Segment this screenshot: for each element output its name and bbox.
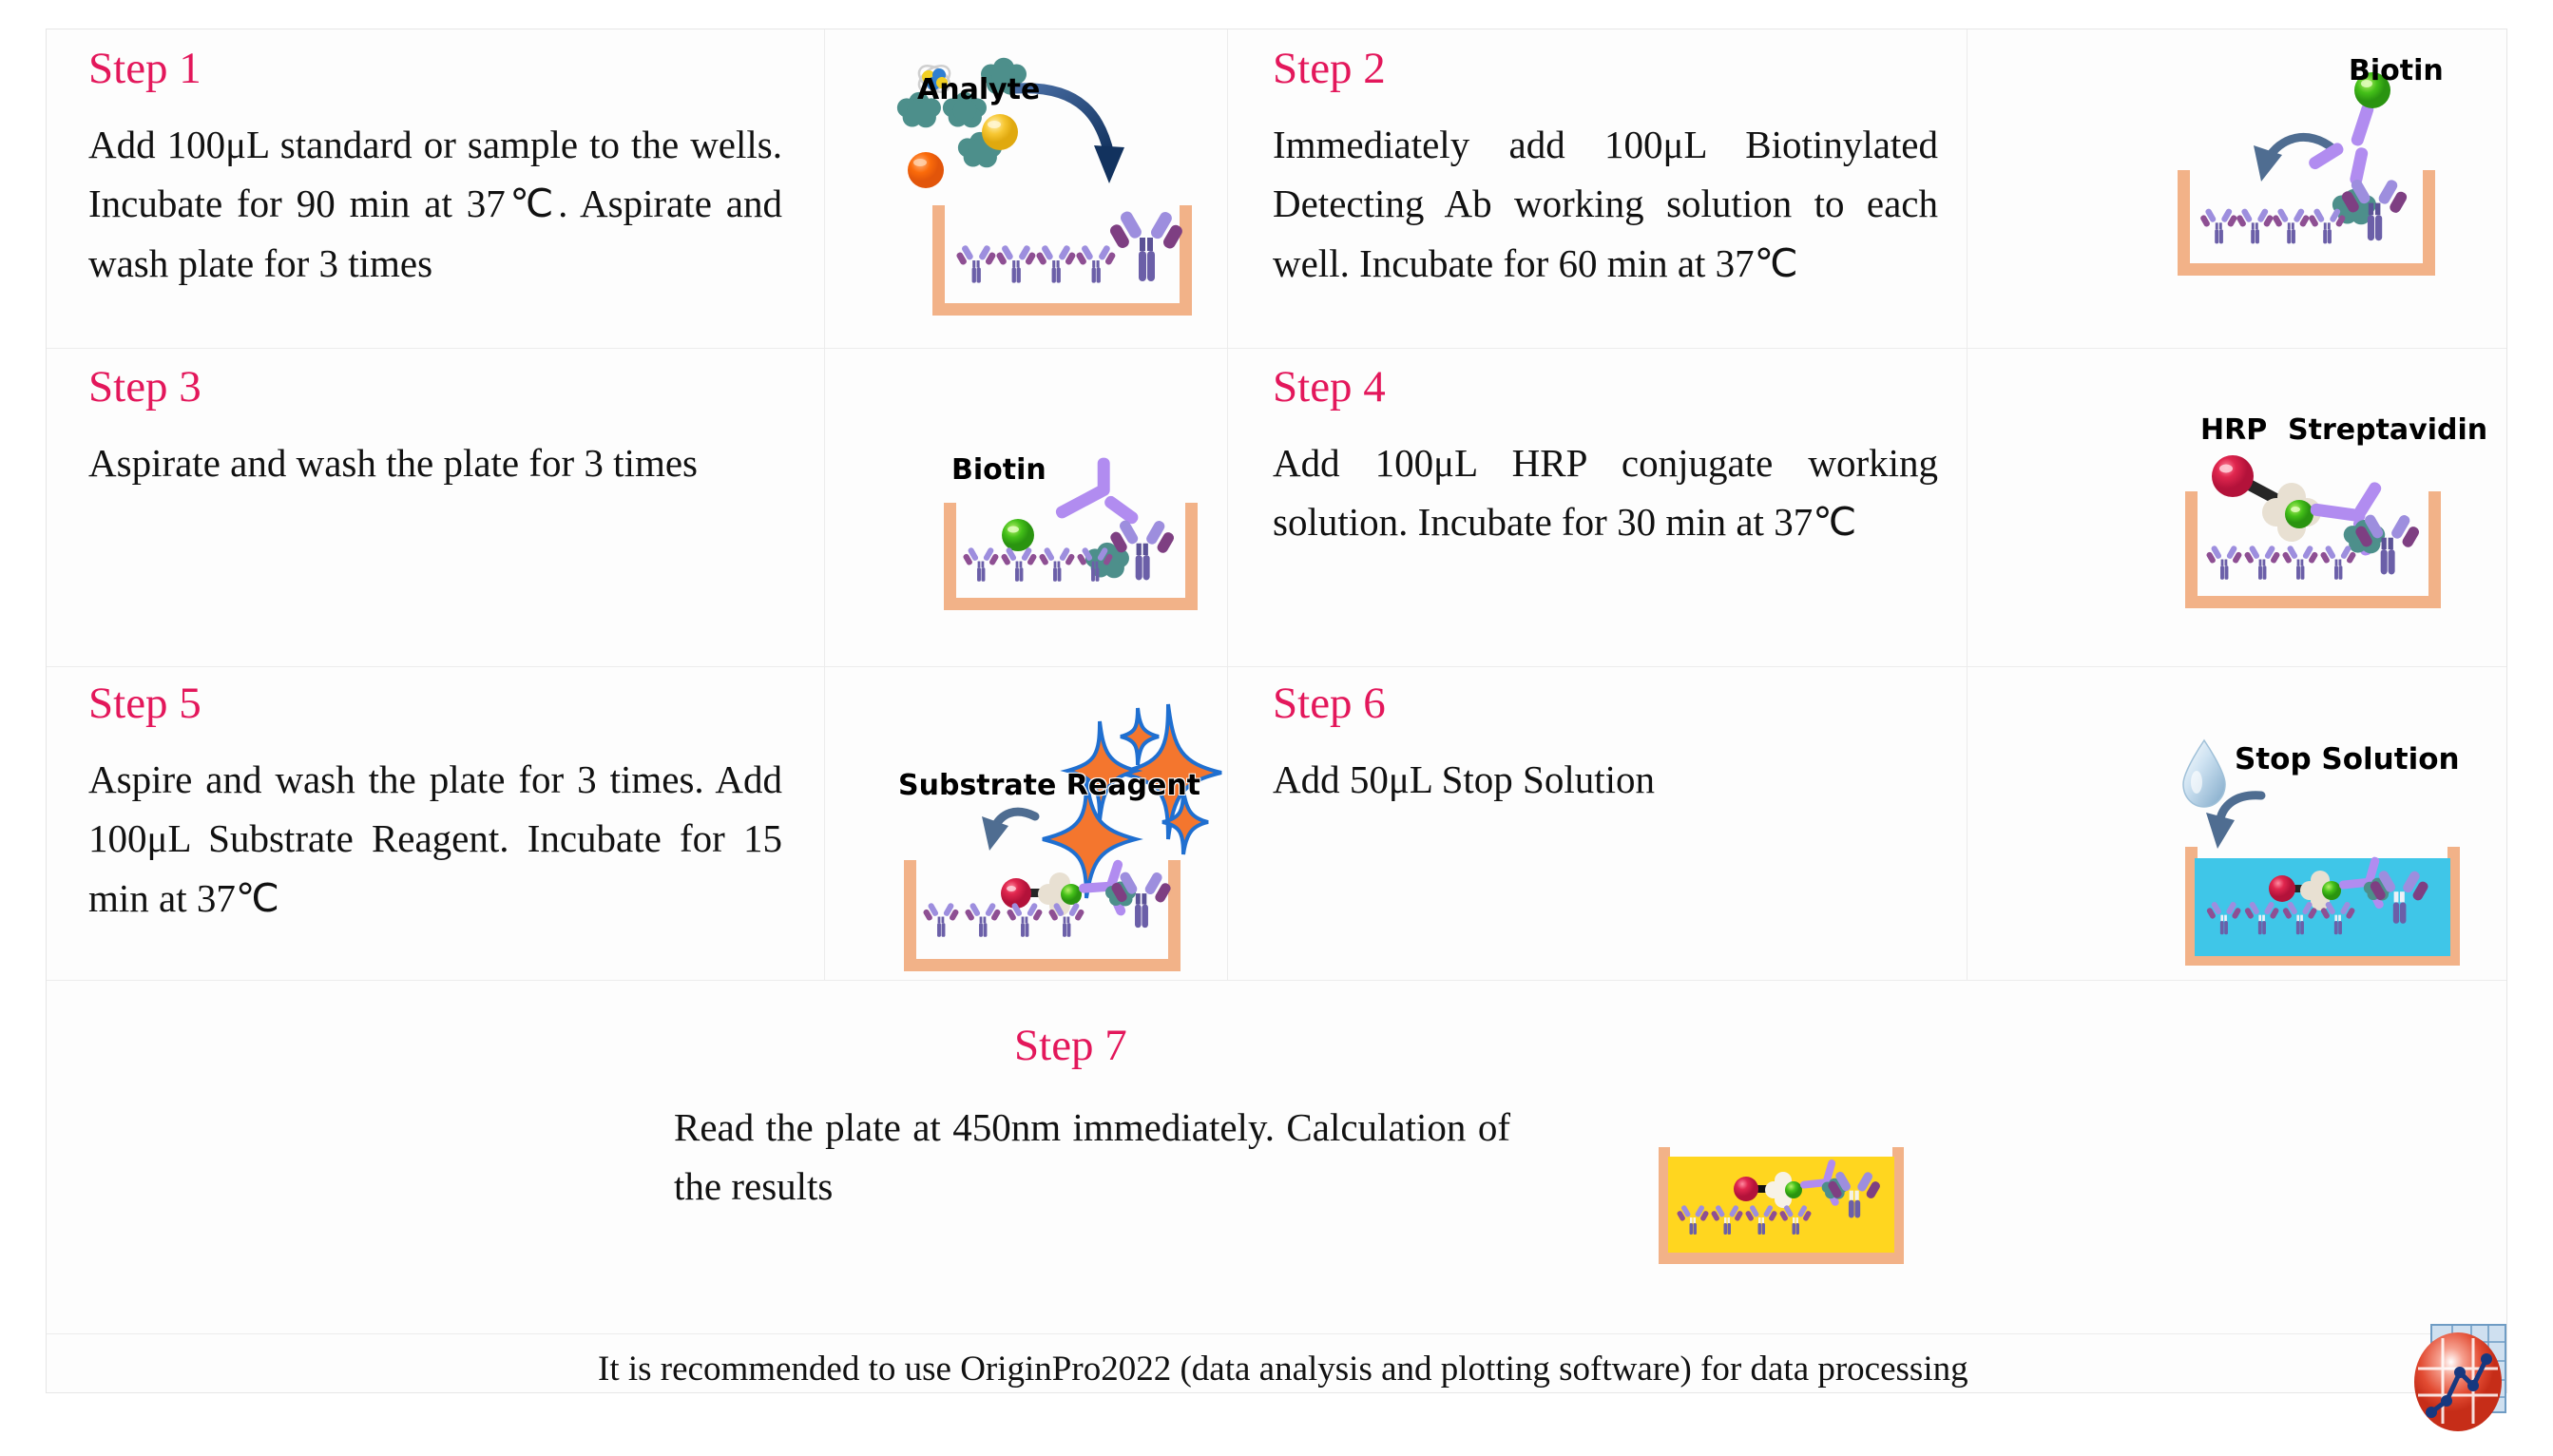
step-6-illustration: Stop Solution	[2176, 733, 2480, 999]
step-3-body: Aspirate and wash the plate for 3 times	[88, 433, 782, 492]
analyte-label: Analyte	[917, 73, 1040, 106]
step-2-title: Step 2	[1273, 47, 1386, 91]
biotin-label: Biotin	[951, 453, 1046, 487]
step-cell-5: Step 5 Aspire and wash the plate for 3 t…	[47, 666, 824, 980]
step-2-body: Immediately add 100μL Biotinylated Detec…	[1273, 115, 1938, 293]
step-3-title: Step 3	[88, 365, 202, 410]
protocol-sheet: Step 1 Add 100μL standard or sample to t…	[46, 29, 2507, 1393]
step-5-illustration: Substrate Reagent	[883, 695, 1225, 980]
grid-divider	[47, 1333, 2506, 1334]
stop-solution-label: Stop Solution	[2235, 742, 2460, 776]
step-cell-1: Step 1 Add 100μL standard or sample to t…	[47, 29, 824, 348]
grid-divider	[1967, 29, 1968, 980]
step-6-title: Step 6	[1273, 681, 1386, 726]
step-3-illustration: Biotin	[900, 429, 1223, 666]
step-1-illustration: Analyte	[883, 39, 1225, 343]
step-cell-7: Step 7 Read the plate at 450nm immediate…	[47, 980, 2506, 1333]
step-5-body: Aspire and wash the plate for 3 times. A…	[88, 750, 782, 928]
streptavidin-label: Streptavidin	[2288, 413, 2487, 447]
step-cell-4: Step 4 Add 100μL HRP conjugate working s…	[1227, 348, 1967, 666]
grid-divider	[824, 29, 825, 980]
step-7-body: Read the plate at 450nm immediately. Cal…	[674, 1098, 1510, 1217]
step-1-title: Step 1	[88, 47, 202, 91]
step-4-title: Step 4	[1273, 365, 1386, 410]
step-7-title: Step 7	[1014, 1024, 1127, 1068]
step-cell-3: Step 3 Aspirate and wash the plate for 3…	[47, 348, 824, 666]
step-2-illustration: Biotin	[2147, 48, 2461, 334]
step-cell-2: Step 2 Immediately add 100μL Biotinylate…	[1227, 29, 1967, 348]
hrp-label: HRP	[2200, 413, 2267, 447]
biotin-label: Biotin	[2349, 54, 2444, 87]
step-7-illustration	[1653, 1122, 1919, 1293]
originpro-logo	[2403, 1323, 2509, 1442]
step-4-illustration: HRP Streptavidin	[2147, 410, 2470, 666]
step-6-body: Add 50μL Stop Solution	[1273, 750, 1938, 809]
step-4-body: Add 100μL HRP conjugate working solution…	[1273, 433, 1938, 552]
step-5-title: Step 5	[88, 681, 202, 726]
substrate-reagent-label: Substrate Reagent	[898, 769, 1200, 802]
step-cell-6: Step 6 Add 50μL Stop Solution	[1227, 666, 1967, 980]
step-1-body: Add 100μL standard or sample to the well…	[88, 115, 782, 293]
footer-note: It is recommended to use OriginPro2022 (…	[598, 1349, 1968, 1389]
